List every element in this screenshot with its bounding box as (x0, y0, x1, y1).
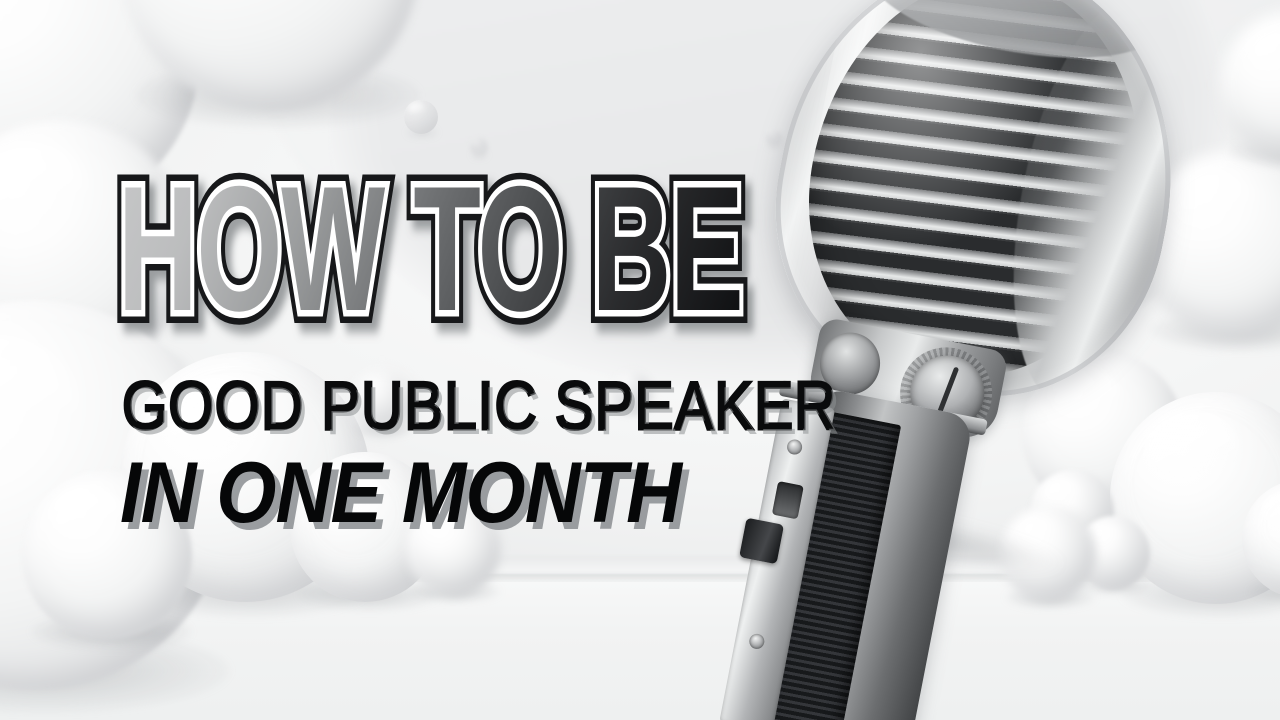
headline-block: HOW TO BE HOW TO BE HOW TO BE GOOD PUBLI… (118, 160, 718, 360)
tagline: IN ONE MONTH (120, 450, 681, 536)
headline-stack: HOW TO BE HOW TO BE HOW TO BE (118, 160, 718, 360)
thumbnail-canvas: HOW TO BE HOW TO BE HOW TO BE GOOD PUBLI… (0, 0, 1280, 720)
glossy-sphere (404, 100, 438, 134)
page-title: HOW TO BE (118, 160, 742, 338)
mic-stand-switch (739, 518, 784, 565)
subheadline: GOOD PUBLIC SPEAKER (122, 372, 837, 440)
